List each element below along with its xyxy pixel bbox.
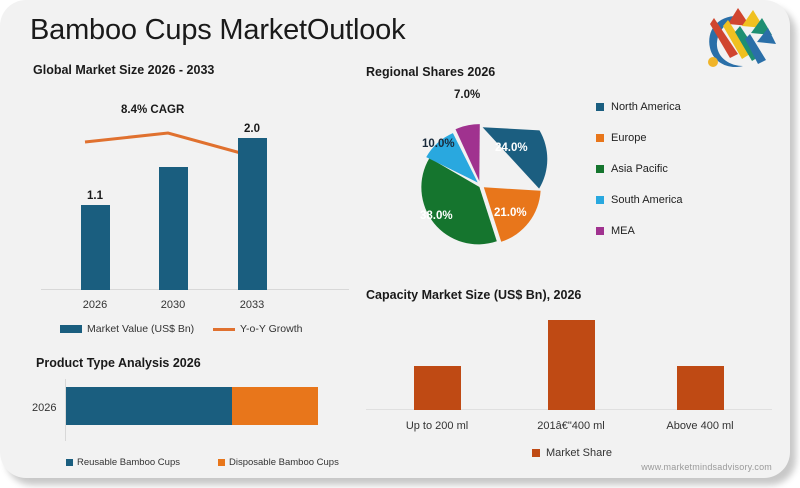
legend-swatch-asia-pacific bbox=[596, 165, 604, 173]
segment-reusable bbox=[66, 387, 232, 425]
global-market-chart: 8.4% CAGR 1.1 2.0 2026 2030 2033 Market … bbox=[33, 85, 353, 335]
legend-label-south-america: South America bbox=[611, 194, 683, 206]
bar-category-2033: 2033 bbox=[222, 299, 282, 311]
legend-yoy-growth: Y-o-Y Growth bbox=[213, 323, 302, 335]
infographic-card: Bamboo Cups MarketOutlook Global Market … bbox=[0, 0, 790, 478]
global-market-title: Global Market Size 2026 - 2033 bbox=[33, 63, 214, 77]
bar-value-2033: 2.0 bbox=[232, 123, 272, 135]
legend-swatch-europe bbox=[596, 134, 604, 142]
capacity-bar-201-400ml bbox=[548, 320, 595, 410]
product-type-title: Product Type Analysis 2026 bbox=[36, 356, 201, 370]
legend-swatch-mea bbox=[596, 227, 604, 235]
legend-item-disposable: Disposable Bamboo Cups bbox=[218, 457, 339, 468]
legend-label-disposable: Disposable Bamboo Cups bbox=[229, 457, 339, 468]
capacity-category-up-to-200ml: Up to 200 ml bbox=[382, 420, 492, 432]
capacity-bar-up-to-200ml bbox=[414, 366, 461, 410]
legend-swatch-south-america bbox=[596, 196, 604, 204]
capacity-legend: Market Share bbox=[366, 447, 778, 459]
bar-category-2030: 2030 bbox=[143, 299, 203, 311]
legend-label-yoy-growth: Y-o-Y Growth bbox=[240, 323, 302, 335]
legend-item-mea: MEA bbox=[596, 220, 683, 243]
legend-swatch-north-america bbox=[596, 103, 604, 111]
regional-shares-pie-chart: 24.0% 21.0% 38.0% 10.0% 7.0% bbox=[366, 82, 586, 287]
product-type-category-label: 2026 bbox=[32, 402, 56, 414]
capacity-category-201-400ml: 201â€"400 ml bbox=[516, 420, 626, 432]
legend-label-reusable: Reusable Bamboo Cups bbox=[77, 457, 180, 468]
legend-market-value: Market Value (US$ Bn) bbox=[60, 323, 194, 335]
bar-2026 bbox=[81, 205, 110, 290]
product-type-legend: Reusable Bamboo Cups Disposable Bamboo C… bbox=[66, 457, 339, 468]
capacity-bar-above-400ml bbox=[677, 366, 724, 410]
regional-shares-title: Regional Shares 2026 bbox=[366, 65, 495, 79]
legend-item-south-america: South America bbox=[596, 189, 683, 212]
bar-2033 bbox=[238, 138, 267, 290]
capacity-category-above-400ml: Above 400 ml bbox=[645, 420, 755, 432]
legend-item-asia-pacific: Asia Pacific bbox=[596, 158, 683, 181]
pie-value-south-america: 10.0% bbox=[422, 138, 455, 150]
legend-swatch-yoy-growth bbox=[213, 328, 235, 331]
capacity-market-title: Capacity Market Size (US$ Bn), 2026 bbox=[366, 288, 581, 302]
segment-disposable bbox=[232, 387, 318, 425]
regional-legend: North America Europe Asia Pacific South … bbox=[596, 96, 683, 251]
legend-swatch-market-value bbox=[60, 325, 82, 333]
legend-label-mea: MEA bbox=[611, 225, 635, 237]
page-title: Bamboo Cups MarketOutlook bbox=[30, 14, 405, 47]
legend-item-europe: Europe bbox=[596, 127, 683, 150]
pie-value-europe: 21.0% bbox=[494, 207, 527, 219]
legend-label-europe: Europe bbox=[611, 132, 646, 144]
legend-label-asia-pacific: Asia Pacific bbox=[611, 163, 668, 175]
legend-item-north-america: North America bbox=[596, 96, 683, 119]
bar-value-2026: 1.1 bbox=[75, 190, 115, 202]
legend-label-market-share: Market Share bbox=[546, 447, 612, 459]
bar-2030 bbox=[159, 167, 188, 290]
bar-category-2026: 2026 bbox=[65, 299, 125, 311]
cagr-annotation: 8.4% CAGR bbox=[121, 104, 184, 116]
product-type-stacked-bar bbox=[66, 387, 318, 425]
pie-value-mea: 7.0% bbox=[454, 89, 480, 101]
legend-swatch-disposable bbox=[218, 459, 225, 466]
legend-label-north-america: North America bbox=[611, 101, 681, 113]
capacity-market-chart: Up to 200 ml 201â€"400 ml Above 400 ml M… bbox=[366, 305, 778, 465]
company-logo-icon bbox=[698, 4, 778, 76]
legend-swatch-market-share bbox=[532, 449, 540, 457]
legend-swatch-reusable bbox=[66, 459, 73, 466]
pie-value-asia-pacific: 38.0% bbox=[420, 210, 453, 222]
watermark-url: www.marketmindsadvisory.com bbox=[641, 462, 772, 472]
legend-label-market-value: Market Value (US$ Bn) bbox=[87, 323, 194, 335]
pie-value-north-america: 24.0% bbox=[495, 142, 528, 154]
legend-item-reusable: Reusable Bamboo Cups bbox=[66, 457, 180, 468]
product-type-chart: 2026 Reusable Bamboo Cups Disposable Bam… bbox=[26, 375, 356, 470]
